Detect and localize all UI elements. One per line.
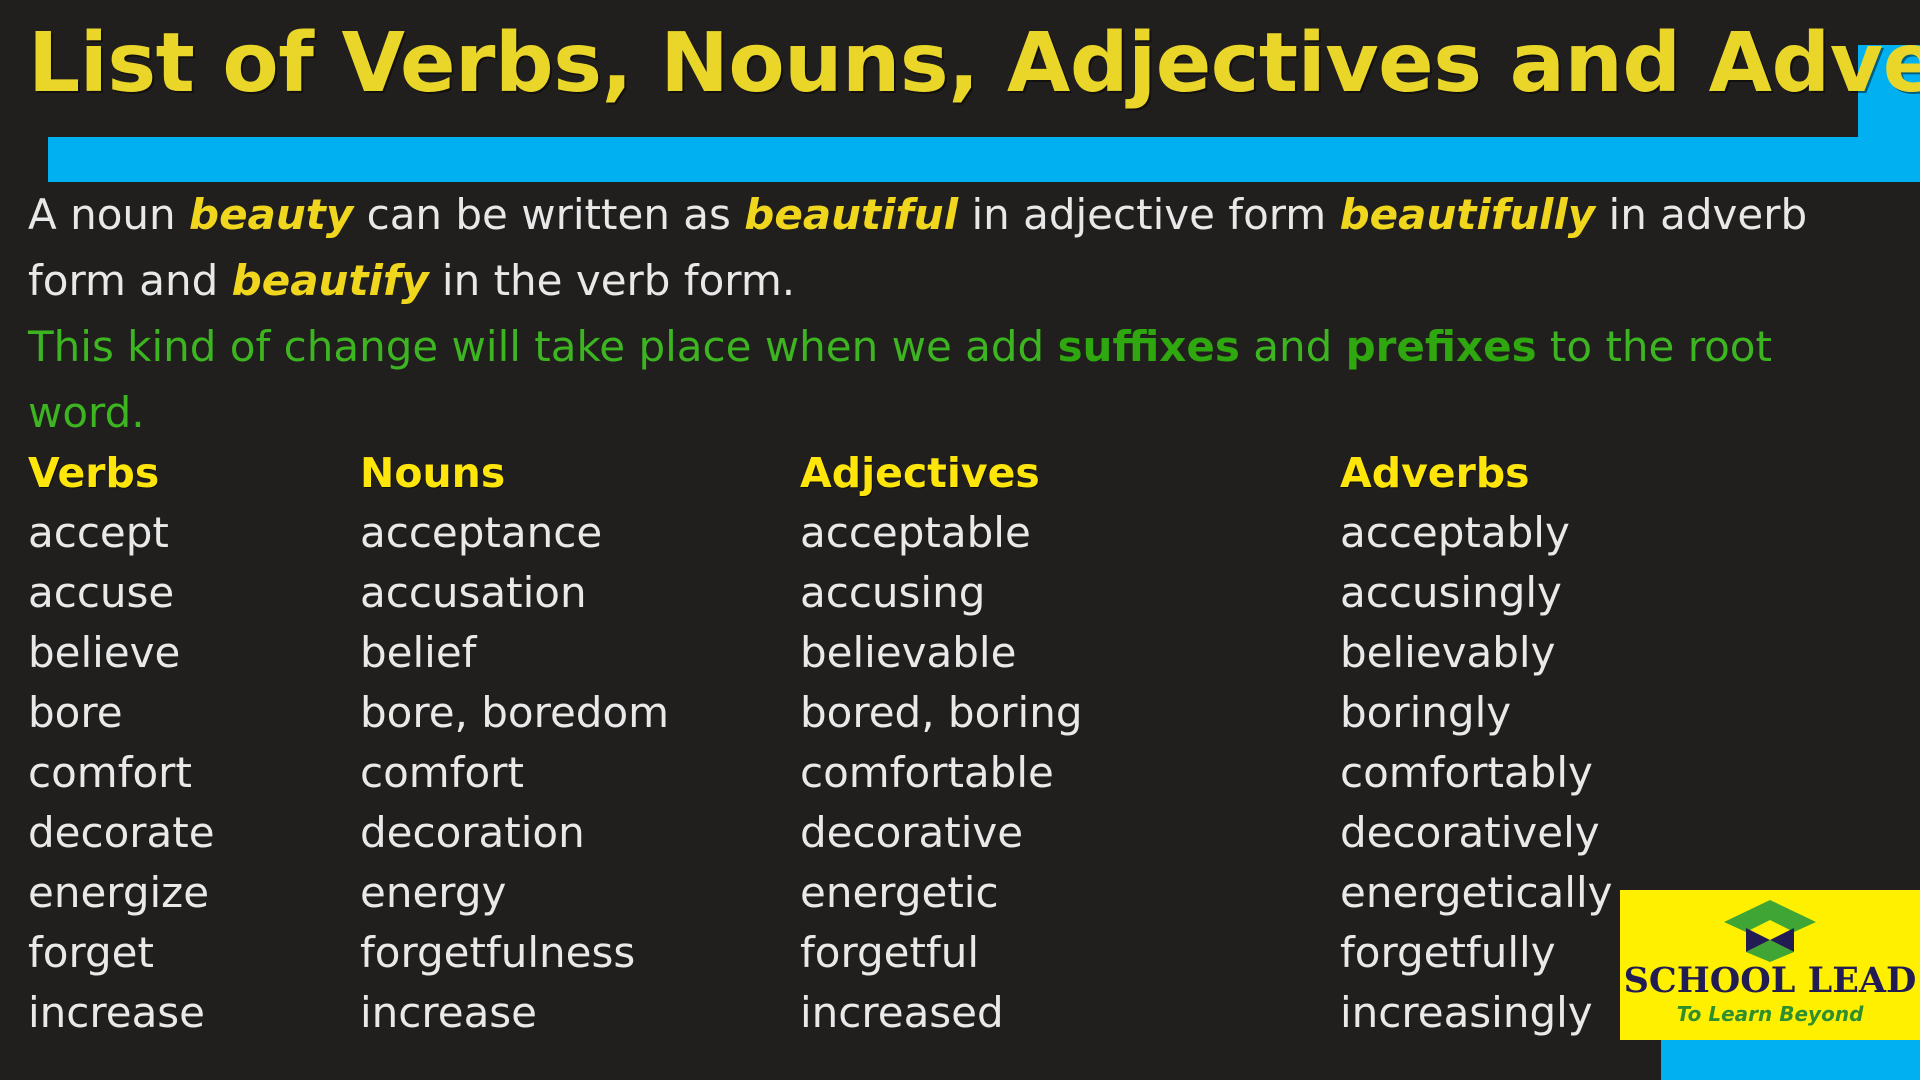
cell-adjective: acceptable: [800, 503, 1031, 563]
cell-adverb: energetically: [1340, 863, 1613, 923]
cell-verb: accept: [28, 503, 169, 563]
cell-verb: increase: [28, 983, 205, 1043]
cell-adjective: comfortable: [800, 743, 1054, 803]
cell-noun: belief: [360, 623, 476, 683]
cell-verb: comfort: [28, 743, 192, 803]
intro-text-5: in the verb form.: [429, 256, 796, 305]
column-header-adverbs: Adverbs: [1340, 445, 1530, 501]
cell-adverb: acceptably: [1340, 503, 1570, 563]
table-row: increase increase increased increasingly: [0, 983, 1700, 1043]
cell-adverb: decoratively: [1340, 803, 1600, 863]
word-forms-table: Verbs Nouns Adjectives Adverbs accept ac…: [0, 445, 1700, 1043]
cell-adverb: increasingly: [1340, 983, 1593, 1043]
table-row: decorate decoration decorative decorativ…: [0, 803, 1700, 863]
cell-verb: forget: [28, 923, 154, 983]
intro-paragraph: A noun beauty can be written as beautifu…: [28, 182, 1868, 314]
cell-adverb: forgetfully: [1340, 923, 1556, 983]
intro-highlight-beauty: beauty: [189, 190, 353, 239]
table-row: accuse accusation accusing accusingly: [0, 563, 1700, 623]
table-row: comfort comfort comfortable comfortably: [0, 743, 1700, 803]
note-strong-suffixes: suffixes: [1058, 322, 1240, 371]
cell-adverb: comfortably: [1340, 743, 1593, 803]
intro-text-1: A noun: [28, 190, 189, 239]
cell-adjective: increased: [800, 983, 1004, 1043]
cell-noun: bore, boredom: [360, 683, 669, 743]
column-header-verbs: Verbs: [28, 445, 159, 501]
cell-noun: decoration: [360, 803, 585, 863]
cell-verb: bore: [28, 683, 123, 743]
slide-canvas: List of Verbs, Nouns, Adjectives and Adv…: [0, 0, 1920, 1080]
intro-highlight-beautiful: beautiful: [744, 190, 958, 239]
cell-noun: comfort: [360, 743, 524, 803]
cell-noun: increase: [360, 983, 537, 1043]
graduation-cap-icon: [1722, 898, 1818, 964]
cell-adverb: accusingly: [1340, 563, 1562, 623]
cell-adjective: believable: [800, 623, 1016, 683]
logo-tagline: To Learn Beyond: [1620, 1002, 1920, 1026]
school-lead-logo: SCHOOL LEAD To Learn Beyond: [1620, 890, 1920, 1040]
cell-noun: accusation: [360, 563, 587, 623]
note-paragraph: This kind of change will take place when…: [28, 314, 1868, 446]
cell-verb: decorate: [28, 803, 215, 863]
cell-adjective: energetic: [800, 863, 999, 923]
cell-adjective: decorative: [800, 803, 1023, 863]
intro-highlight-beautifully: beautifully: [1340, 190, 1596, 239]
cell-verb: energize: [28, 863, 209, 923]
page-title: List of Verbs, Nouns, Adjectives and Adv…: [28, 6, 1868, 124]
intro-text-2: can be written as: [353, 190, 744, 239]
cell-adjective: bored, boring: [800, 683, 1082, 743]
table-header-row: Verbs Nouns Adjectives Adverbs: [0, 445, 1700, 503]
table-row: accept acceptance acceptable acceptably: [0, 503, 1700, 563]
cell-noun: forgetfulness: [360, 923, 635, 983]
cell-verb: believe: [28, 623, 180, 683]
accent-bar-bottom-right: [1661, 1040, 1920, 1080]
cell-noun: acceptance: [360, 503, 602, 563]
note-strong-prefixes: prefixes: [1346, 322, 1537, 371]
cell-adverb: boringly: [1340, 683, 1511, 743]
intro-highlight-beautify: beautify: [232, 256, 429, 305]
logo-name: SCHOOL LEAD: [1620, 962, 1920, 1000]
accent-bar-horizontal-top: [48, 137, 1920, 182]
note-text-2: and: [1240, 322, 1346, 371]
cell-noun: energy: [360, 863, 506, 923]
intro-text-3: in adjective form: [958, 190, 1339, 239]
cell-adverb: believably: [1340, 623, 1555, 683]
cell-adjective: forgetful: [800, 923, 979, 983]
table-row: bore bore, boredom bored, boring boringl…: [0, 683, 1700, 743]
table-row: believe belief believable believably: [0, 623, 1700, 683]
column-header-adjectives: Adjectives: [800, 445, 1040, 501]
table-row: energize energy energetic energetically: [0, 863, 1700, 923]
column-header-nouns: Nouns: [360, 445, 505, 501]
cell-adjective: accusing: [800, 563, 985, 623]
cell-verb: accuse: [28, 563, 174, 623]
table-row: forget forgetfulness forgetful forgetful…: [0, 923, 1700, 983]
note-text-1: This kind of change will take place when…: [28, 322, 1058, 371]
